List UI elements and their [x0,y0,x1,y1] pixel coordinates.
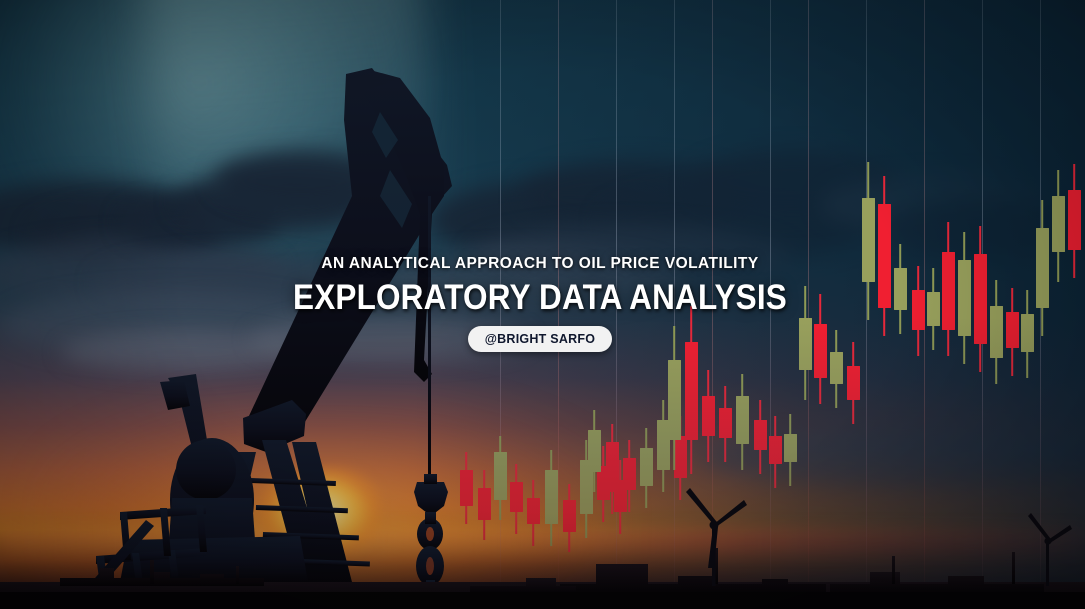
poster-canvas: AN ANALYTICAL APPROACH TO OIL PRICE VOLA… [0,0,1085,609]
poster-eyebrow: AN ANALYTICAL APPROACH TO OIL PRICE VOLA… [160,255,920,272]
author-badge[interactable]: @BRIGHT SARFO [468,326,613,352]
page-title: EXPLORATORY DATA ANALYSIS [198,280,882,315]
poster-text-block: AN ANALYTICAL APPROACH TO OIL PRICE VOLA… [160,255,920,352]
badge-row: @BRIGHT SARFO [160,326,920,352]
